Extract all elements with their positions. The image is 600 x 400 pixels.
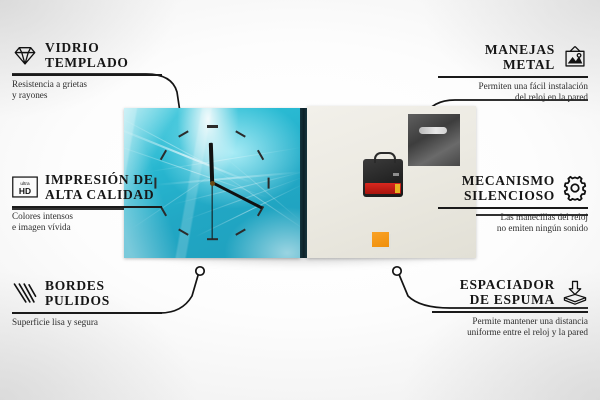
callout-vidrio-templado: VIDRIO TEMPLADO Resistencia a grietas y … <box>12 40 162 102</box>
diamond-icon <box>12 42 38 68</box>
mechanism-marking <box>393 173 399 176</box>
clock-tick <box>267 177 269 188</box>
callout-mecanismo-silencioso: MECANISMO SILENCIOSO Las manecillas del … <box>438 173 588 235</box>
callout-subtitle: Superficie lisa y segura <box>12 317 162 329</box>
hanger-slot <box>419 127 447 134</box>
callout-title: VIDRIO TEMPLADO <box>45 40 129 70</box>
callout-impresion-alta-calidad: ultra HD IMPRESIÓN DE ALTA CALIDAD Color… <box>12 172 162 234</box>
callout-subtitle: Las manecillas del reloj no emiten ningú… <box>438 212 588 235</box>
foam-spacer-icon <box>562 279 588 305</box>
polished-edges-icon <box>12 280 38 306</box>
hanging-frame-icon <box>562 44 588 70</box>
clock-mechanism <box>363 159 403 197</box>
callout-title: MANEJAS METAL <box>485 42 555 72</box>
callout-rule <box>438 76 588 78</box>
product-image <box>124 108 476 260</box>
callout-espaciador-espuma: ESPACIADOR DE ESPUMA Permite mantener un… <box>432 277 588 339</box>
clock-glass-edge <box>300 108 307 258</box>
svg-text:HD: HD <box>19 186 31 196</box>
callout-title: BORDES PULIDOS <box>45 278 110 308</box>
foam-spacer <box>372 232 389 247</box>
callout-title: ESPACIADOR DE ESPUMA <box>460 277 555 307</box>
clock-tick <box>207 125 218 127</box>
callout-subtitle: Permite mantener una distancia uniforme … <box>432 316 588 339</box>
clock-center-pin <box>210 181 215 186</box>
battery <box>365 183 401 194</box>
infographic-canvas: VIDRIO TEMPLADO Resistencia a grietas y … <box>0 0 600 400</box>
callout-subtitle: Resistencia a grietas y rayones <box>12 79 162 102</box>
callout-rule <box>432 311 588 313</box>
gear-icon <box>562 175 588 201</box>
mechanism-hook <box>374 152 396 163</box>
callout-title: IMPRESIÓN DE ALTA CALIDAD <box>45 172 154 202</box>
callout-manejas-metal: MANEJAS METAL Permiten una fácil instala… <box>438 42 588 104</box>
callout-rule <box>12 312 162 314</box>
callout-subtitle: Colores intensos e imagen vívida <box>12 211 162 234</box>
metal-hanger-plate <box>408 114 460 166</box>
ultra-hd-icon: ultra HD <box>12 174 38 200</box>
callout-bordes-pulidos: BORDES PULIDOS Superficie lisa y segura <box>12 278 162 328</box>
callout-title: MECANISMO SILENCIOSO <box>462 173 555 203</box>
callout-rule <box>12 74 162 76</box>
battery-terminal <box>395 184 400 193</box>
second-hand <box>211 183 212 239</box>
callout-rule <box>438 207 588 209</box>
callout-rule <box>12 206 162 208</box>
callout-subtitle: Permiten una fácil instalación del reloj… <box>438 81 588 104</box>
